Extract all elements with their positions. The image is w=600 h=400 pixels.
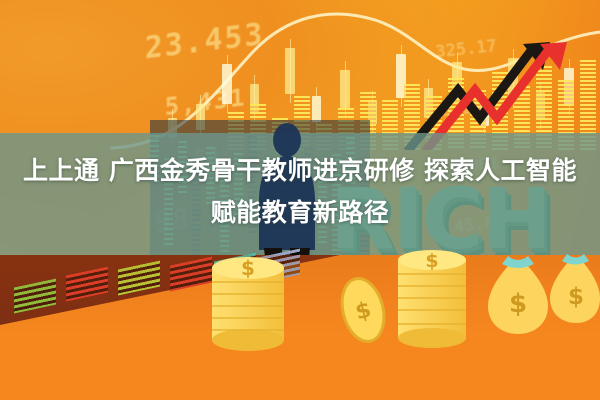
headline-line-2: 赋能教育新路径 [0,192,600,234]
money-illustration: $ $ $ $ $ [0,238,600,358]
coin-stack-right: $ [398,250,466,348]
money-bag-2: $ [550,254,600,323]
headline-line-1: 上上通 广西金秀骨干教师进京研修 探索人工智能 [0,150,600,192]
coin-stack-left: $ [212,256,284,351]
svg-text:$: $ [568,284,584,310]
svg-text:$: $ [241,256,255,280]
headline: 上上通 广西金秀骨干教师进京研修 探索人工智能 赋能教育新路径 [0,150,600,234]
loose-coin: $ [336,274,390,346]
svg-text:$: $ [509,289,527,319]
svg-text:$: $ [425,250,438,272]
money-bag-1: $ [488,256,548,334]
promo-banner: 23.453 5,431 54 98.675 874.345 5,389 2,3… [0,0,600,400]
